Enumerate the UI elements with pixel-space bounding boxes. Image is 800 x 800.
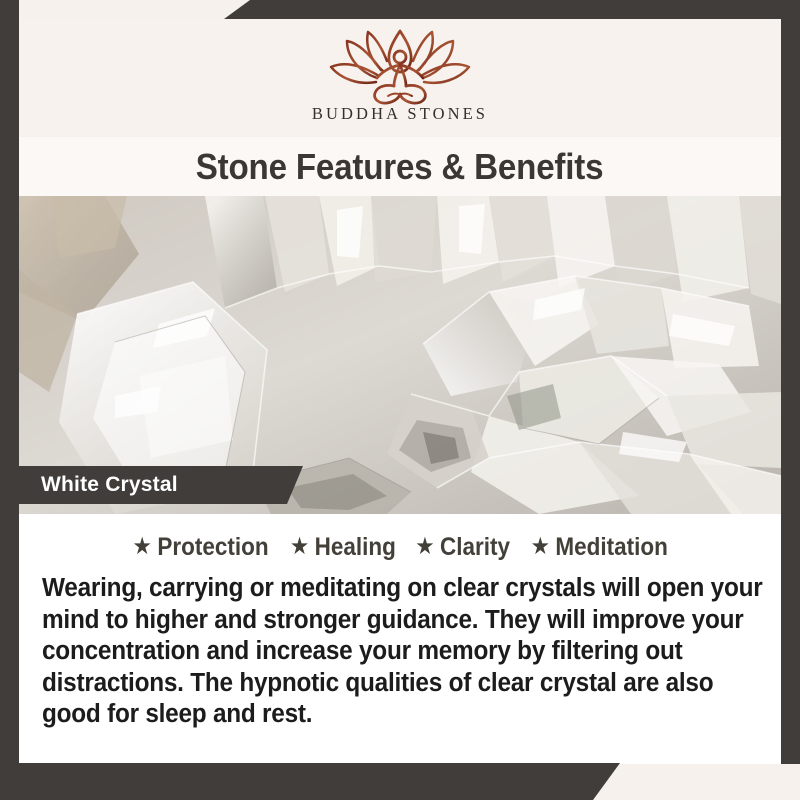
benefit-label: Clarity: [440, 533, 510, 562]
star-icon: ★: [531, 535, 550, 559]
description-paragraph: Wearing, carrying or meditating on clear…: [42, 573, 777, 731]
star-icon: ★: [290, 535, 309, 559]
benefit-label: Healing: [314, 533, 395, 562]
frame-top-bar: [224, 0, 800, 19]
frame-bottom-bar: [0, 763, 620, 800]
stone-name-badge: White Crystal: [19, 466, 303, 504]
infographic-canvas: BUDDHA STONES Stone Features & Benefits: [0, 0, 800, 800]
star-icon: ★: [132, 535, 151, 559]
frame-right-bar: [781, 19, 800, 764]
frame-left-bar: [0, 0, 19, 800]
benefit-clarity: ★ Clarity: [415, 533, 510, 562]
lotus-meditation-icon: [325, 28, 475, 108]
benefit-meditation: ★ Meditation: [531, 533, 668, 562]
star-icon: ★: [415, 535, 434, 559]
brand-header: BUDDHA STONES: [19, 19, 781, 137]
page-title: Stone Features & Benefits: [196, 146, 604, 188]
white-crystal-cluster-photo: White Crystal: [19, 196, 781, 514]
stone-name-label: White Crystal: [41, 473, 178, 497]
benefit-healing: ★ Healing: [290, 533, 396, 562]
benefit-protection: ★ Protection: [132, 533, 268, 562]
brand-wordmark: BUDDHA STONES: [312, 104, 488, 124]
benefit-label: Meditation: [555, 533, 668, 562]
content-panel: ★ Protection ★ Healing ★ Clarity ★ Medit…: [19, 514, 781, 764]
card-surface: BUDDHA STONES Stone Features & Benefits: [19, 19, 781, 764]
benefit-label: Protection: [157, 533, 268, 562]
title-band: Stone Features & Benefits: [19, 137, 781, 196]
benefits-row: ★ Protection ★ Healing ★ Clarity ★ Medit…: [33, 514, 767, 570]
